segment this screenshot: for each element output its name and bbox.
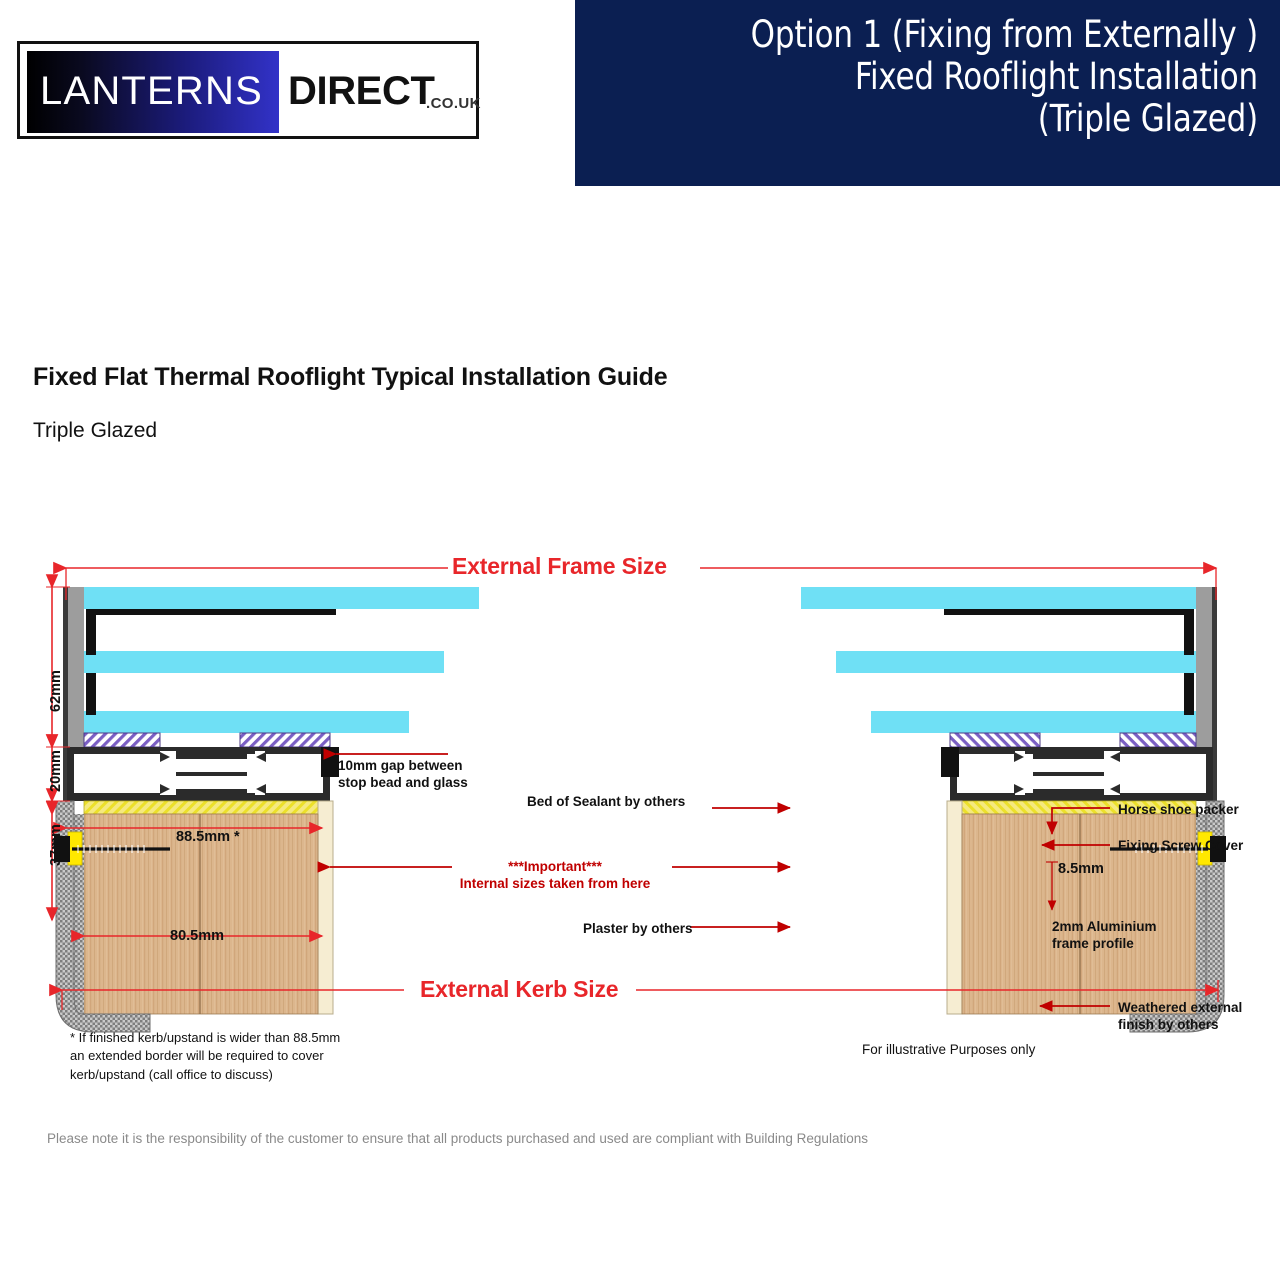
spacer-bar-upper: [86, 609, 336, 615]
cross-section-svg: [0, 540, 1280, 1100]
right-frame-outer-skin: [1196, 587, 1213, 752]
callout-stop-bead-gap: 10mm gap between stop bead and glass: [338, 757, 468, 792]
glass-pane-inner-r: [871, 711, 1196, 733]
installation-cross-section-diagram: [0, 540, 1280, 1100]
external-kerb-size-label: External Kerb Size: [420, 976, 618, 1003]
dimension-62mm: 62mm: [48, 670, 64, 712]
page-subtitle: Triple Glazed: [33, 419, 157, 443]
illustrative-purposes-note: For illustrative Purposes only: [862, 1042, 1035, 1057]
logo-word-direct: DIRECT: [288, 71, 435, 111]
glass-pane-inner: [84, 711, 409, 733]
logo-domain-suffix: .CO.UK: [426, 96, 481, 111]
callout-horse-shoe-packer: Horse shoe packer: [1118, 801, 1239, 818]
spacer-edge-lower: [86, 673, 96, 715]
dimension-88-5mm: 88.5mm *: [176, 829, 240, 845]
glass-pane-middle-r: [836, 651, 1196, 673]
header-title: Option 1 (Fixing from Externally ) Fixed…: [644, 14, 1258, 141]
external-frame-size-label: External Frame Size: [452, 553, 667, 580]
left-assembly: [54, 587, 479, 1032]
plaster-left: [318, 801, 333, 1014]
dimension-80-5mm: 80.5mm: [170, 928, 224, 944]
glass-pane-middle: [84, 651, 444, 673]
spacer-edge-upper: [86, 609, 96, 655]
bed-of-sealant-left: [84, 801, 330, 814]
logo-word-lanterns: LANTERNS: [40, 71, 263, 111]
callout-plaster: Plaster by others: [583, 920, 693, 937]
left-aluminium-frame-profile: [67, 747, 330, 801]
dimension-20mm: 20mm: [48, 750, 64, 792]
building-regulations-disclaimer: Please note it is the responsibility of …: [47, 1131, 868, 1146]
glass-pane-outer: [84, 587, 479, 609]
dimension-8-5mm: 8.5mm: [1058, 861, 1104, 877]
callout-bed-of-sealant: Bed of Sealant by others: [527, 793, 685, 810]
kerb-width-footnote: * If finished kerb/upstand is wider than…: [70, 1029, 340, 1084]
setting-block-right: [240, 733, 330, 747]
callout-weathered-finish: Weathered external finish by others: [1118, 999, 1242, 1034]
callout-important: ***Important*** Internal sizes taken fro…: [455, 858, 655, 893]
dimension-37mm: 37mm: [48, 824, 64, 866]
glass-pane-outer-r: [801, 587, 1196, 609]
stop-bead-block: [321, 747, 339, 777]
stop-bead-block-r: [941, 747, 959, 777]
right-aluminium-frame-profile: [950, 747, 1213, 801]
callout-fixing-screw-cover: Fixing Screw Cover: [1118, 837, 1243, 854]
setting-block-left: [84, 733, 160, 747]
left-frame-outer-skin: [67, 587, 84, 752]
plaster-right: [947, 801, 962, 1014]
brand-logo: LANTERNS DIRECT .CO.UK: [17, 41, 479, 139]
callout-aluminium-profile: 2mm Aluminium frame profile: [1052, 918, 1157, 953]
page-title: Fixed Flat Thermal Rooflight Typical Ins…: [33, 363, 667, 392]
